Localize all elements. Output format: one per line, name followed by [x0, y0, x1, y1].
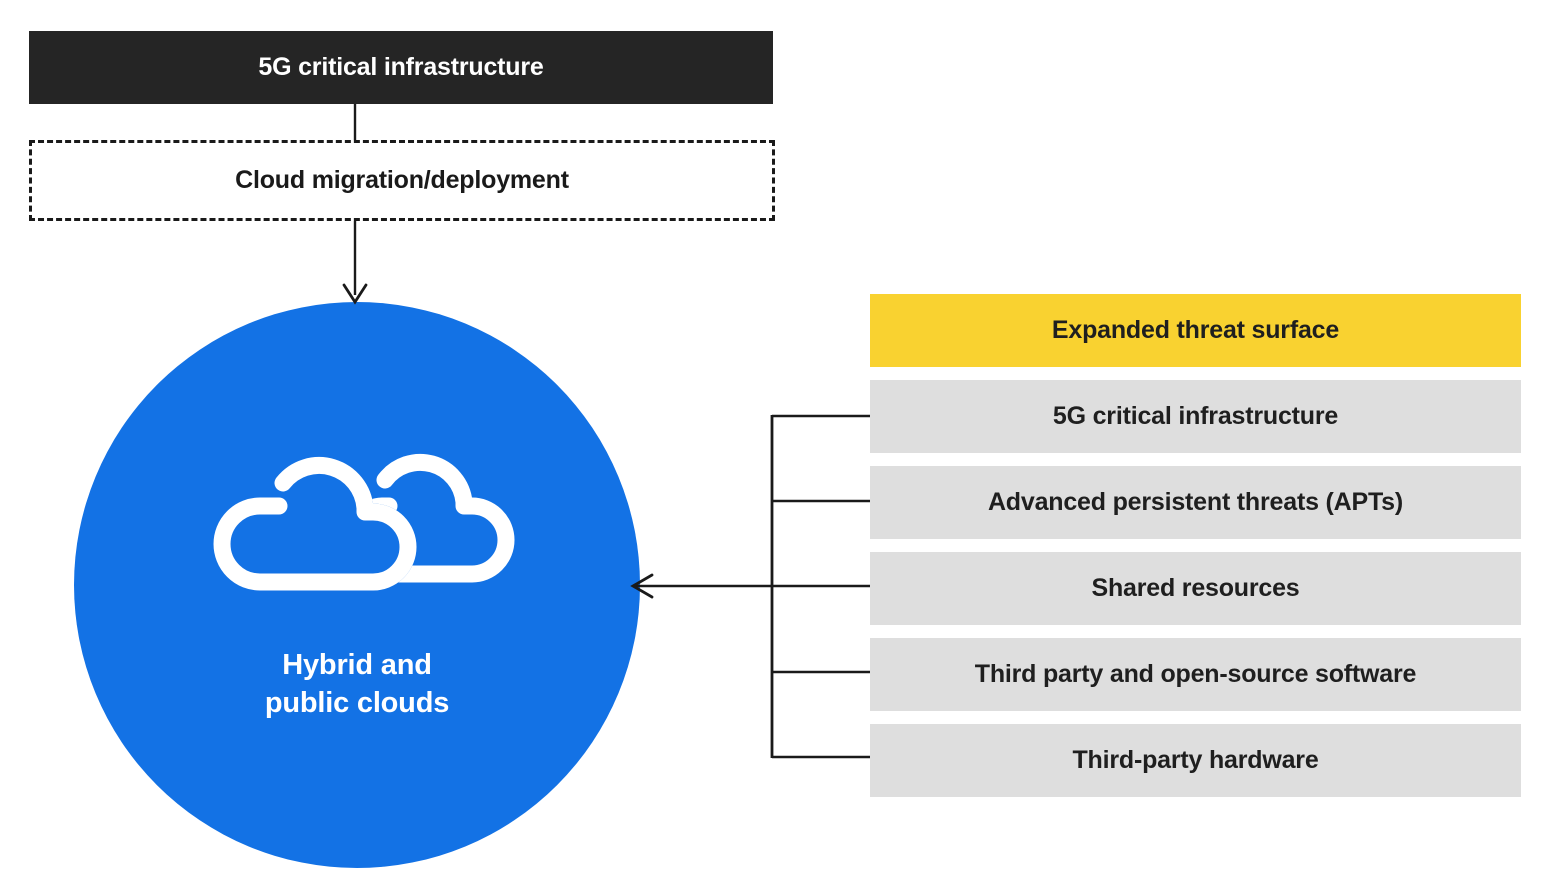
- threat-item: Advanced persistent threats (APTs): [870, 466, 1521, 539]
- threat-item-label: Advanced persistent threats (APTs): [988, 489, 1403, 517]
- threat-item-label: Shared resources: [1091, 575, 1299, 603]
- threat-item: Third party and open-source software: [870, 638, 1521, 711]
- title-box-label: 5G critical infrastructure: [258, 54, 543, 82]
- threat-item: 5G critical infrastructure: [870, 380, 1521, 453]
- expanded-threat-surface-panel: Expanded threat surface 5G critical infr…: [870, 294, 1521, 797]
- double-cloud-icon: [187, 439, 527, 604]
- threat-panel-header: Expanded threat surface: [870, 294, 1521, 367]
- threat-panel-header-label: Expanded threat surface: [1052, 317, 1339, 345]
- threat-item-label: Third-party hardware: [1072, 747, 1318, 775]
- process-box: Cloud migration/deployment: [29, 140, 775, 221]
- threat-item-label: 5G critical infrastructure: [1053, 403, 1338, 431]
- arrowhead-down-icon: [344, 285, 366, 302]
- process-box-label: Cloud migration/deployment: [235, 167, 569, 195]
- cloud-node-label: Hybrid and public clouds: [265, 646, 449, 723]
- hybrid-public-clouds-node: Hybrid and public clouds: [74, 302, 640, 868]
- diagram-canvas: 5G critical infrastructure Cloud migrati…: [0, 0, 1551, 895]
- threat-item-label: Third party and open-source software: [975, 661, 1416, 689]
- title-box: 5G critical infrastructure: [29, 31, 773, 104]
- threat-item: Shared resources: [870, 552, 1521, 625]
- threat-item: Third-party hardware: [870, 724, 1521, 797]
